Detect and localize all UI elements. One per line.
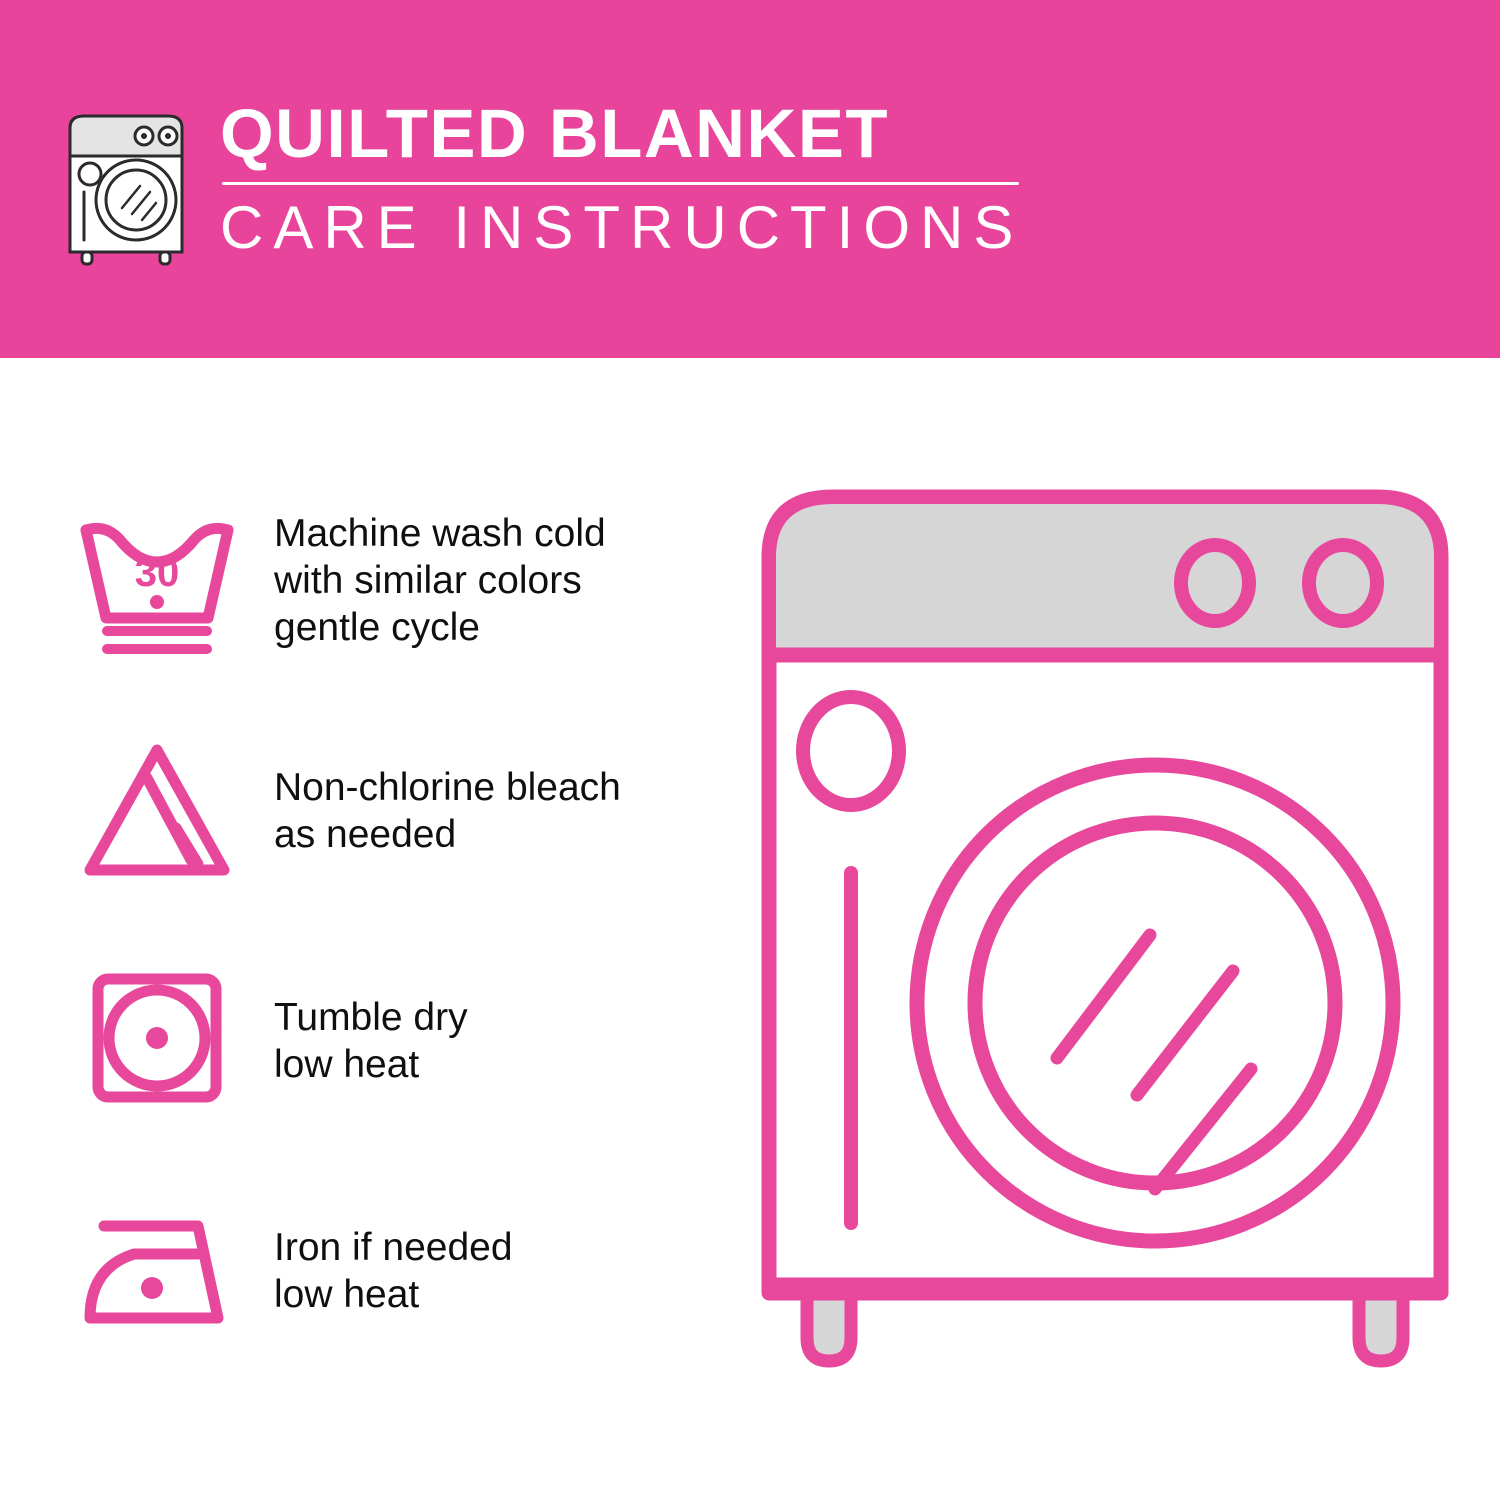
care-item-tumble-dry-label: Tumble dry low heat xyxy=(274,994,468,1088)
iron-low-heat-icon xyxy=(62,1196,252,1346)
care-item-wash: 30 Machine wash cold with similar colors… xyxy=(62,493,702,668)
content-area: 30 Machine wash cold with similar colors… xyxy=(0,358,1500,1500)
care-item-iron-label: Iron if needed low heat xyxy=(274,1224,513,1318)
title-divider xyxy=(222,182,1019,185)
page-subtitle: CARE INSTRUCTIONS xyxy=(220,193,1023,263)
wash-tub-30-gentle-icon: 30 xyxy=(62,506,252,656)
tumble-dry-low-icon xyxy=(62,966,252,1116)
care-item-bleach: Non-chlorine bleach as needed xyxy=(62,723,702,898)
wash-temperature-label: 30 xyxy=(135,551,180,595)
header-banner: QUILTED BLANKET CARE INSTRUCTIONS xyxy=(0,0,1500,358)
header-content: QUILTED BLANKET CARE INSTRUCTIONS xyxy=(60,96,1023,268)
front-load-washing-machine-illustration xyxy=(755,483,1455,1413)
care-item-tumble-dry: Tumble dry low heat xyxy=(62,953,702,1128)
title-block: QUILTED BLANKET CARE INSTRUCTIONS xyxy=(220,96,1023,263)
care-item-iron: Iron if needed low heat xyxy=(62,1183,702,1358)
care-item-wash-label: Machine wash cold with similar colors ge… xyxy=(274,510,606,651)
non-chlorine-bleach-triangle-icon xyxy=(62,736,252,886)
care-instructions-list: 30 Machine wash cold with similar colors… xyxy=(62,493,702,1358)
care-item-bleach-label: Non-chlorine bleach as needed xyxy=(274,764,621,858)
page-title: QUILTED BLANKET xyxy=(220,96,1023,172)
washing-machine-icon xyxy=(60,108,192,268)
machine-control-panel xyxy=(776,504,1434,655)
